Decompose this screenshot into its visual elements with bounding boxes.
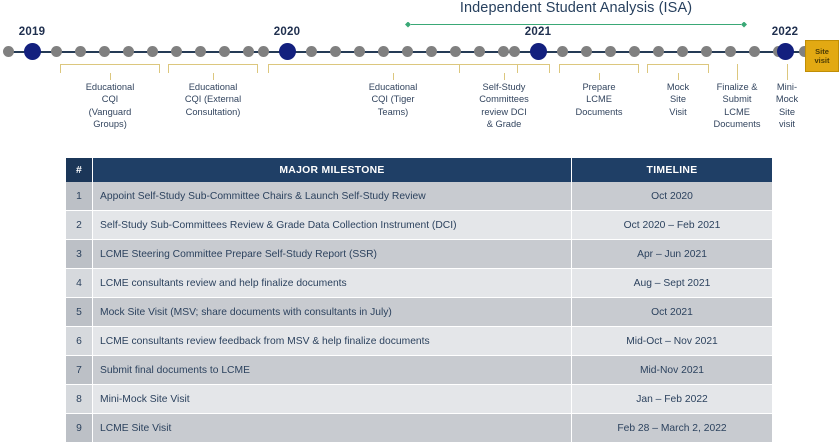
table-row: 8Mini-Mock Site VisitJan – Feb 2022 [66, 385, 772, 414]
phase-label-line: Prepare [556, 81, 642, 93]
table-row: 3LCME Steering Committee Prepare Self-St… [66, 240, 772, 269]
isa-arrow-bar [411, 24, 741, 26]
table-body: 1Appoint Self-Study Sub-Committee Chairs… [66, 182, 772, 443]
timeline-tick-dot [701, 46, 712, 57]
phase-label-line: Consultation) [170, 106, 256, 118]
table-row: 7Submit final documents to LCMEMid-Nov 2… [66, 356, 772, 385]
phase-label-line: Mock [744, 93, 830, 105]
phase-label: Self-StudyCommitteesreview DCI& Grade [461, 81, 547, 130]
cell-timeline: Oct 2020 – Feb 2021 [572, 211, 773, 240]
timeline-tick-dot [219, 46, 230, 57]
timeline-year-label-2019: 2019 [19, 26, 45, 38]
table-header-number: # [66, 158, 93, 182]
phase-label-line: CQI (Tiger [350, 93, 436, 105]
table-row: 6LCME consultants review feedback from M… [66, 327, 772, 356]
cell-milestone: Mock Site Visit (MSV; share documents wi… [93, 298, 572, 327]
phase-label: EducationalCQI (TigerTeams) [350, 81, 436, 118]
phase-label: PrepareLCMEDocuments [556, 81, 642, 118]
phase-label-line: & Grade [461, 118, 547, 130]
phase-bracket [168, 64, 258, 73]
cell-timeline: Apr – Jun 2021 [572, 240, 773, 269]
table-row: 4LCME consultants review and help finali… [66, 269, 772, 298]
timeline-tick-dot [426, 46, 437, 57]
timeline-tick-dot [605, 46, 616, 57]
timeline-tick-dot [306, 46, 317, 57]
isa-arrow-right-cap-icon [741, 22, 747, 28]
cell-timeline: Aug – Sept 2021 [572, 269, 773, 298]
timeline-tick-dot [330, 46, 341, 57]
cell-number: 6 [66, 327, 93, 356]
cell-milestone: LCME consultants review and help finaliz… [93, 269, 572, 298]
cell-timeline: Oct 2020 [572, 182, 773, 211]
phase-label-line: Teams) [350, 106, 436, 118]
isa-label: Independent Student Analysis (ISA) [405, 0, 747, 16]
cell-timeline: Jan – Feb 2022 [572, 385, 773, 414]
table-row: 9LCME Site VisitFeb 28 – March 2, 2022 [66, 414, 772, 443]
phase-label-line: Committees [461, 93, 547, 105]
timeline-tick-dot [75, 46, 86, 57]
timeline-tick-dot [378, 46, 389, 57]
timeline-tick-dot [354, 46, 365, 57]
timeline-tick-dot [195, 46, 206, 57]
phase-label-line: Self-Study [461, 81, 547, 93]
phase-stem [599, 73, 600, 80]
phase-label: Mini-MockSitevisit [744, 81, 830, 130]
timeline-phase-labels: EducationalCQI(VanguardGroups)Educationa… [0, 64, 840, 150]
phase-label-line: Documents [556, 106, 642, 118]
timeline-tick-dot [677, 46, 688, 57]
phase-label-line: Site [744, 106, 830, 118]
phase-label: EducationalCQI(VanguardGroups) [67, 81, 153, 130]
timeline-year-marker-2020 [279, 43, 296, 60]
cell-number: 2 [66, 211, 93, 240]
timeline-tick-dot [402, 46, 413, 57]
phase-label-line: Educational [350, 81, 436, 93]
phase-label-line: CQI (External [170, 93, 256, 105]
cell-milestone: Submit final documents to LCME [93, 356, 572, 385]
table-row: 5Mock Site Visit (MSV; share documents w… [66, 298, 772, 327]
major-milestone-table: # MAJOR MILESTONE TIMELINE 1Appoint Self… [66, 158, 772, 443]
cell-milestone: LCME consultants review feedback from MS… [93, 327, 572, 356]
phase-stem [678, 73, 679, 80]
table-header-timeline: TIMELINE [572, 158, 773, 182]
timeline-tick-dot [450, 46, 461, 57]
timeline-tick-dot [749, 46, 760, 57]
timeline-tick-dot [147, 46, 158, 57]
timeline-year-label-2022: 2022 [772, 26, 798, 38]
isa-double-arrow-icon [405, 20, 747, 29]
phase-stem [787, 64, 788, 80]
phase-label-line: visit [744, 118, 830, 130]
timeline-year-label-2021: 2021 [525, 26, 551, 38]
timeline-tick-dot [3, 46, 14, 57]
timeline-tick-dot [171, 46, 182, 57]
cell-timeline: Feb 28 – March 2, 2022 [572, 414, 773, 443]
timeline-tick-dot [123, 46, 134, 57]
timeline-year-marker-2022 [777, 43, 794, 60]
table-row: 1Appoint Self-Study Sub-Committee Chairs… [66, 182, 772, 211]
cell-number: 4 [66, 269, 93, 298]
timeline-year-marker-2019 [24, 43, 41, 60]
cell-milestone: Appoint Self-Study Sub-Committee Chairs … [93, 182, 572, 211]
phase-stem [213, 73, 214, 80]
table-header-row: # MAJOR MILESTONE TIMELINE [66, 158, 772, 182]
timeline-tick-dot [725, 46, 736, 57]
timeline-year-label-2020: 2020 [274, 26, 300, 38]
cell-timeline: Mid-Oct – Nov 2021 [572, 327, 773, 356]
cell-milestone: LCME Steering Committee Prepare Self-Stu… [93, 240, 572, 269]
timeline-tick-dot [498, 46, 509, 57]
phase-label-line: CQI [67, 93, 153, 105]
site-visit-badge-line1: Site [815, 47, 829, 56]
timeline-axis: 2019202020212022 [0, 38, 840, 66]
timeline-diagram: Independent Student Analysis (ISA) 20192… [0, 0, 840, 150]
phase-stem [504, 73, 505, 80]
cell-number: 3 [66, 240, 93, 269]
cell-milestone: Self-Study Sub-Committees Review & Grade… [93, 211, 572, 240]
timeline-tick-dot [51, 46, 62, 57]
phase-stem [110, 73, 111, 80]
phase-bracket [459, 64, 550, 73]
isa-annotation: Independent Student Analysis (ISA) [405, 0, 747, 28]
table-header-milestone: MAJOR MILESTONE [93, 158, 572, 182]
phase-label-line: LCME [556, 93, 642, 105]
cell-number: 1 [66, 182, 93, 211]
phase-label-line: Educational [170, 81, 256, 93]
cell-timeline: Oct 2021 [572, 298, 773, 327]
phase-bracket [559, 64, 639, 73]
timeline-year-marker-2021 [530, 43, 547, 60]
cell-number: 8 [66, 385, 93, 414]
cell-milestone: LCME Site Visit [93, 414, 572, 443]
phase-label-line: Educational [67, 81, 153, 93]
timeline-tick-dot [474, 46, 485, 57]
cell-number: 7 [66, 356, 93, 385]
phase-stem [393, 73, 394, 80]
timeline-tick-dot [243, 46, 254, 57]
phase-label-line: review DCI [461, 106, 547, 118]
timeline-tick-dot [653, 46, 664, 57]
table-row: 2Self-Study Sub-Committees Review & Grad… [66, 211, 772, 240]
phase-label: EducationalCQI (ExternalConsultation) [170, 81, 256, 118]
phase-bracket [60, 64, 160, 73]
cell-timeline: Mid-Nov 2021 [572, 356, 773, 385]
cell-number: 5 [66, 298, 93, 327]
phase-stem [737, 64, 738, 80]
phase-label-line: Groups) [67, 118, 153, 130]
phase-bracket [647, 64, 709, 73]
cell-milestone: Mini-Mock Site Visit [93, 385, 572, 414]
timeline-tick-dot [509, 46, 520, 57]
phase-label-line: Mini- [744, 81, 830, 93]
timeline-tick-dot [258, 46, 269, 57]
timeline-tick-dot [581, 46, 592, 57]
timeline-tick-dot [629, 46, 640, 57]
cell-number: 9 [66, 414, 93, 443]
timeline-tick-dot [557, 46, 568, 57]
phase-label-line: (Vanguard [67, 106, 153, 118]
timeline-tick-dot [99, 46, 110, 57]
